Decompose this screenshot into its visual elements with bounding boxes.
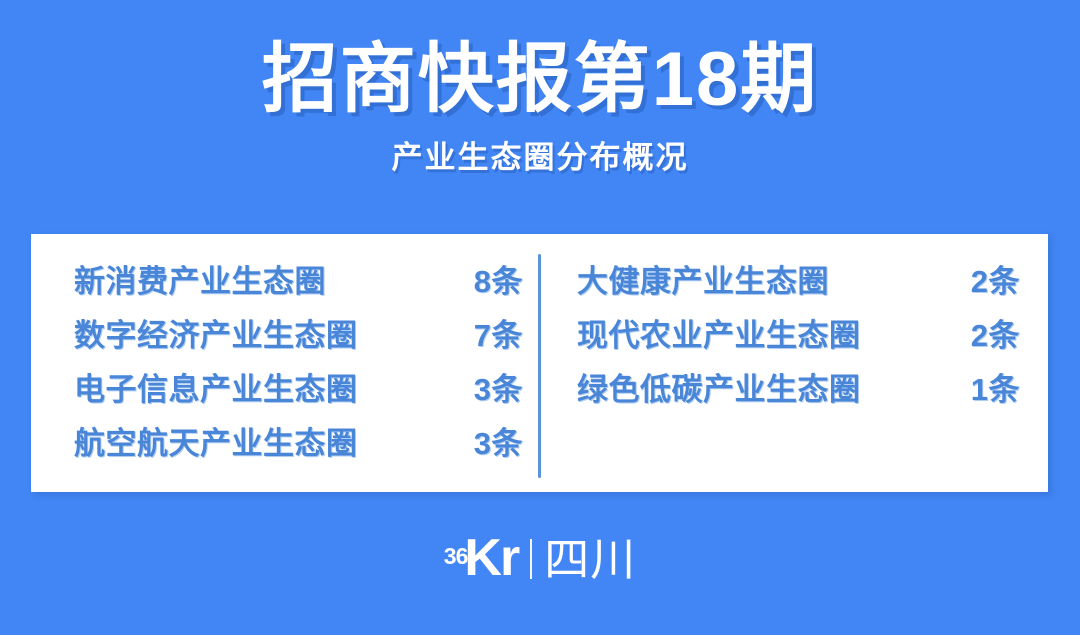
ecosystem-label: 现代农业产业生态圈 [577, 309, 861, 363]
poster-canvas: 招商快报第18期 产业生态圈分布概况 新消费产业生态圈 8条 数字经济产业生态圈… [0, 0, 1080, 635]
ecosystem-count: 7条 [474, 309, 523, 363]
logo-mark-36: 36 [444, 545, 468, 568]
brand-logo: 36 Kr 四川 [444, 536, 636, 582]
page-title: 招商快报第18期 [0, 0, 1080, 118]
logo-region-label: 四川 [544, 539, 636, 582]
ecosystem-count: 1条 [971, 363, 1020, 417]
poster-footer: 36 Kr 四川 [0, 536, 1080, 582]
list-item: 现代农业产业生态圈 2条 [577, 309, 1020, 363]
ecosystem-count: 2条 [971, 309, 1020, 363]
ecosystem-count: 8条 [474, 255, 523, 309]
ecosystem-label: 大健康产业生态圈 [577, 255, 829, 309]
right-column: 大健康产业生态圈 2条 现代农业产业生态圈 2条 绿色低碳产业生态圈 1条 [538, 234, 1048, 492]
list-item: 绿色低碳产业生态圈 1条 [577, 363, 1020, 417]
page-subtitle: 产业生态圈分布概况 [0, 118, 1080, 173]
list-item: 大健康产业生态圈 2条 [577, 255, 1020, 309]
stats-card-inner: 新消费产业生态圈 8条 数字经济产业生态圈 7条 电子信息产业生态圈 3条 航空… [31, 234, 1048, 492]
ecosystem-label: 绿色低碳产业生态圈 [577, 363, 861, 417]
ecosystem-count: 3条 [474, 363, 523, 417]
ecosystem-label: 航空航天产业生态圈 [74, 417, 358, 471]
list-item: 航空航天产业生态圈 3条 [74, 417, 523, 471]
poster-header: 招商快报第18期 产业生态圈分布概况 [0, 0, 1080, 173]
logo-separator-icon [530, 539, 532, 579]
left-column: 新消费产业生态圈 8条 数字经济产业生态圈 7条 电子信息产业生态圈 3条 航空… [31, 234, 538, 492]
ecosystem-count: 3条 [474, 417, 523, 471]
logo-wordmark-kr: Kr [464, 536, 518, 582]
ecosystem-label: 电子信息产业生态圈 [74, 363, 358, 417]
ecosystem-label: 新消费产业生态圈 [74, 255, 326, 309]
list-item: 电子信息产业生态圈 3条 [74, 363, 523, 417]
ecosystem-count: 2条 [971, 255, 1020, 309]
ecosystem-label: 数字经济产业生态圈 [74, 309, 358, 363]
list-item: 新消费产业生态圈 8条 [74, 255, 523, 309]
list-item: 数字经济产业生态圈 7条 [74, 309, 523, 363]
stats-card: 新消费产业生态圈 8条 数字经济产业生态圈 7条 电子信息产业生态圈 3条 航空… [31, 234, 1048, 492]
